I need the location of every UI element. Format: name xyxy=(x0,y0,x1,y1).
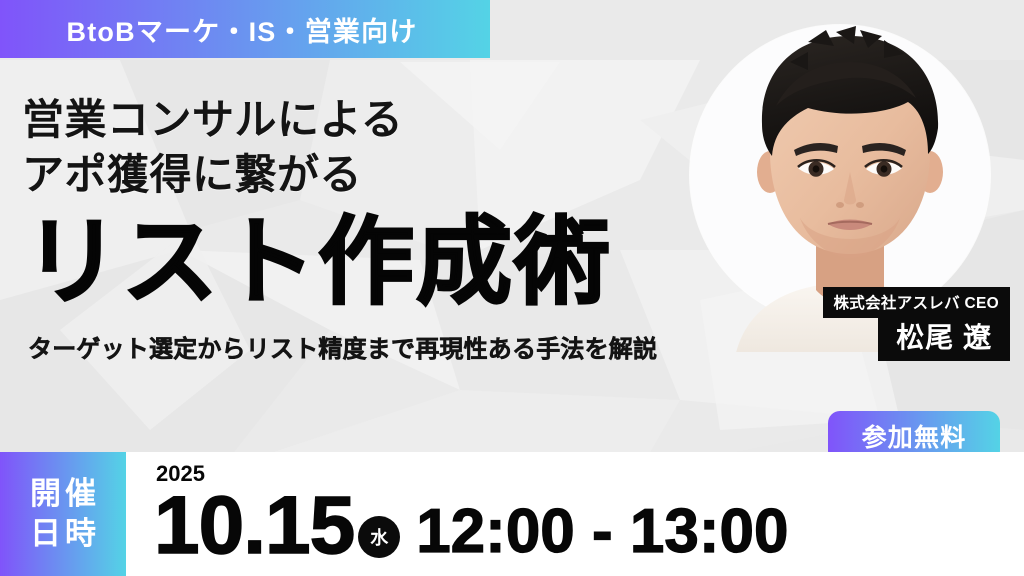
headline-main-title: リスト作成術 xyxy=(24,211,657,315)
date-bar: 開催 日時 2025 10.15 水 12:00 - 13:00 xyxy=(0,452,1024,576)
headline-line-2: アポ獲得に繋がる xyxy=(22,147,657,202)
category-ribbon-label: BtoBマーケ・IS・営業向け xyxy=(67,10,418,49)
date-bar-content: 2025 10.15 水 12:00 - 13:00 xyxy=(126,452,1024,576)
headline-subtitle: ターゲット選定からリスト精度まで再現性ある手法を解説 xyxy=(28,329,657,364)
webinar-banner: BtoBマーケ・IS・営業向け 営業コンサルによる アポ獲得に繋がる リスト作成… xyxy=(0,0,1024,576)
date-bar-label-line-1: 開催 xyxy=(26,475,100,513)
category-ribbon: BtoBマーケ・IS・営業向け xyxy=(0,0,490,58)
headline-line-1: 営業コンサルによる xyxy=(22,92,657,147)
date-bar-label-line-2: 日時 xyxy=(26,515,100,553)
headline-block: 営業コンサルによる アポ獲得に繋がる リスト作成術 ターゲット選定からリスト精度… xyxy=(22,92,657,364)
event-time: 12:00 - 13:00 xyxy=(416,503,788,560)
event-date: 10.15 xyxy=(154,490,354,562)
event-year: 2025 xyxy=(156,463,205,485)
date-bar-label: 開催 日時 xyxy=(0,452,126,576)
weekday-badge: 水 xyxy=(358,516,400,558)
speaker-name: 松尾 遼 xyxy=(878,313,1010,361)
